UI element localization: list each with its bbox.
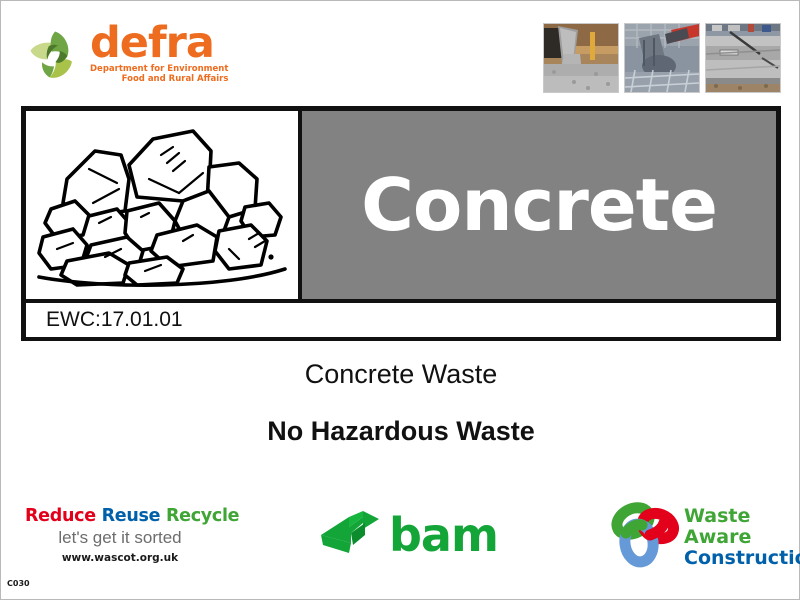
frame-upper-row: Concrete — [26, 111, 776, 303]
waste-aware-line1: Waste Aware — [684, 506, 800, 548]
wascot-url: www.wascot.org.uk — [25, 552, 215, 564]
waste-aware-construction-logo: Waste Aware Construction — [606, 499, 800, 576]
concrete-chute-pour-photo — [543, 23, 619, 93]
wascot-logo: Reduce Reuse Recycle let's get it sorted… — [25, 506, 215, 564]
concrete-screeding-slab-photo — [705, 23, 781, 93]
defra-tagline: Department for Environment Food and Rura… — [90, 64, 228, 84]
bam-arrow-icon — [319, 509, 381, 560]
primary-caption: Concrete Waste — [1, 359, 800, 390]
wascot-recycle-word: Recycle — [166, 506, 239, 526]
secondary-caption: No Hazardous Waste — [1, 416, 800, 447]
waste-aware-line2: Construction — [684, 548, 800, 569]
ewc-code-bar: EWC:17.01.01 — [26, 303, 776, 337]
wascot-reuse-word: Reuse — [102, 506, 161, 526]
poster-footer: Reduce Reuse Recycle let's get it sorted… — [1, 491, 800, 586]
wascot-slogan-line: Reduce Reuse Recycle — [25, 506, 215, 526]
defra-tagline-line1: Department for Environment — [90, 64, 228, 74]
wascot-reduce-word: Reduce — [25, 506, 96, 526]
concrete-pump-rebar-photo — [624, 23, 700, 93]
header-photo-strip — [543, 23, 781, 93]
waste-type-frame: Concrete EWC:17.01.01 — [21, 106, 781, 341]
wascot-strapline: let's get it sorted — [25, 528, 215, 548]
waste-signage-poster: defra Department for Environment Food an… — [0, 0, 800, 600]
bam-logo: bam — [319, 509, 498, 560]
defra-wordmark: defra — [90, 25, 228, 61]
defra-wordmark-block: defra Department for Environment Food an… — [90, 25, 228, 84]
document-code: C030 — [7, 579, 30, 588]
bam-wordmark: bam — [389, 512, 498, 558]
poster-header: defra Department for Environment Food an… — [1, 1, 800, 101]
defra-trefoil-icon — [26, 27, 82, 83]
concrete-rubble-pile-icon — [26, 111, 302, 299]
ewc-code: EWC:17.01.01 — [46, 308, 183, 332]
defra-tagline-line2: Food and Rural Affairs — [90, 74, 228, 84]
waste-title-panel: Concrete — [302, 111, 776, 299]
interlocking-rings-icon — [606, 499, 682, 576]
page-title: Concrete — [361, 169, 717, 241]
defra-logo: defra Department for Environment Food an… — [26, 25, 228, 84]
waste-aware-wordmark: Waste Aware Construction — [684, 506, 800, 569]
